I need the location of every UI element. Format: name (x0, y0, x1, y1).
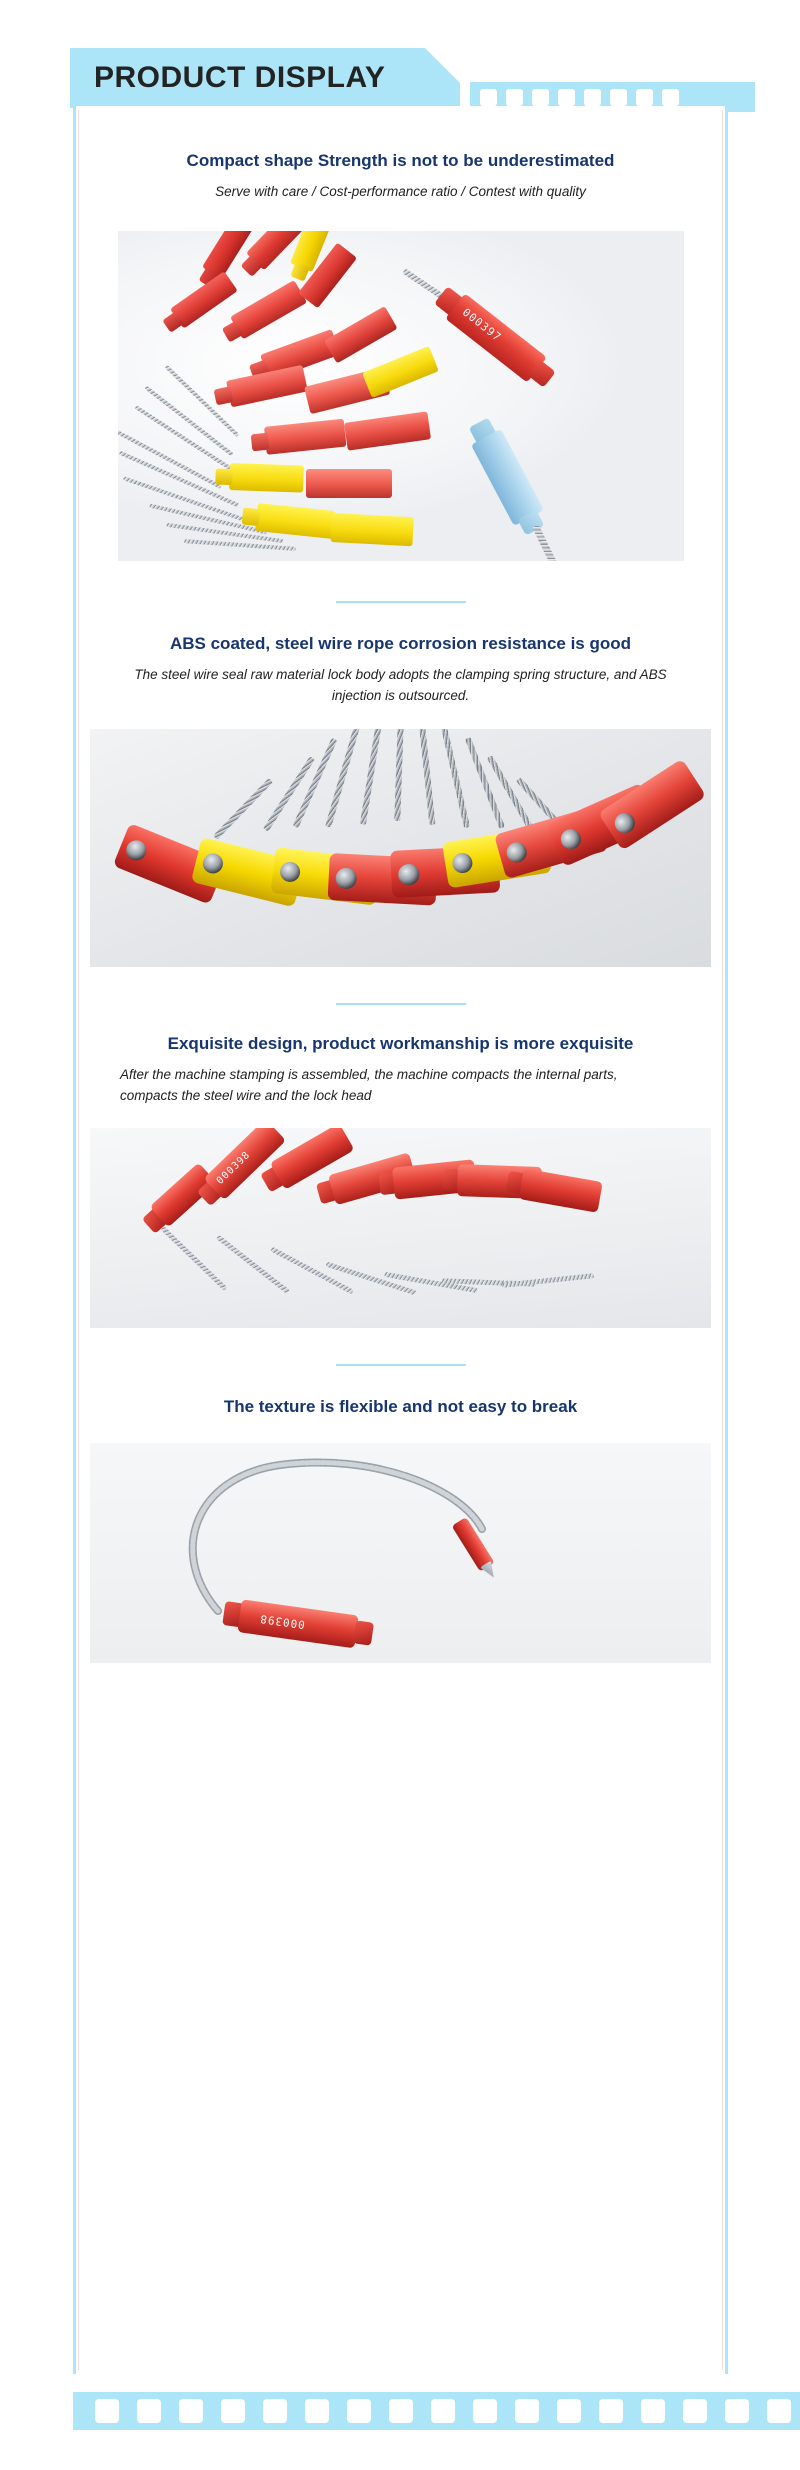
product-photo-seal-heads (90, 729, 711, 967)
seal-cap (353, 1621, 374, 1646)
perforation-square (305, 2399, 329, 2423)
section-exquisite-design: Exquisite design, product workmanship is… (80, 1005, 721, 1367)
wire-loop-svg (90, 1443, 711, 1663)
section-heading: ABS coated, steel wire rope corrosion re… (80, 633, 721, 656)
seal-shell (306, 469, 392, 498)
steel-wire-loop-shadow (193, 1463, 482, 1611)
perforation-square (179, 2399, 203, 2423)
perforation-square (263, 2399, 287, 2423)
perforation-square (725, 2399, 749, 2423)
section-flexible-texture: The texture is flexible and not easy to … (80, 1366, 721, 1663)
perforation-square (641, 2399, 665, 2423)
perforation-square (506, 89, 523, 106)
perforation-square (584, 89, 601, 106)
product-display-page: PRODUCT DISPLAY Compact shape Strength i… (0, 0, 800, 2470)
perforation-square (532, 89, 549, 106)
perforation-square (431, 2399, 455, 2423)
perforation-square (558, 89, 575, 106)
product-photo-single-seal-loop: 000398 (90, 1443, 711, 1663)
section-heading: Compact shape Strength is not to be unde… (80, 150, 721, 173)
seal-shell (229, 463, 304, 493)
perforation-square (480, 89, 497, 106)
perforation-square (515, 2399, 539, 2423)
perforation-square (221, 2399, 245, 2423)
seal-shell (330, 513, 413, 546)
section-heading: Exquisite design, product workmanship is… (80, 1033, 721, 1056)
seal-cap (241, 507, 260, 526)
frame-inner-line-right (722, 110, 723, 2370)
perforation-square (610, 89, 627, 106)
steel-wire-loop (193, 1463, 482, 1611)
perforation-square (636, 89, 653, 106)
perforation-square (599, 2399, 623, 2423)
perforation-square (137, 2399, 161, 2423)
section-abs-coated: ABS coated, steel wire rope corrosion re… (80, 603, 721, 1005)
seal-cap (250, 433, 269, 452)
perforation-square (767, 2399, 791, 2423)
perforation-square (473, 2399, 497, 2423)
section-heading: The texture is flexible and not easy to … (80, 1396, 721, 1419)
seal-cap (213, 386, 233, 405)
section-subtitle: After the machine stamping is assembled,… (80, 1065, 721, 1107)
perforation-square (389, 2399, 413, 2423)
product-photo-red-seals-row: 000398 (90, 1128, 711, 1328)
section-subtitle: Serve with care / Cost-performance ratio… (80, 182, 721, 203)
perforation-square (662, 89, 679, 106)
page-title: PRODUCT DISPLAY (70, 61, 385, 95)
perforation-square (557, 2399, 581, 2423)
seal-cap (215, 468, 233, 485)
perforation-square (683, 2399, 707, 2423)
section-subtitle: The steel wire seal raw material lock bo… (80, 665, 721, 707)
frame-inner-line-left (78, 110, 79, 2370)
title-banner: PRODUCT DISPLAY (70, 48, 460, 108)
content-column: Compact shape Strength is not to be unde… (80, 112, 721, 1663)
footer-perforation-strip (73, 2392, 800, 2430)
perforation-square (95, 2399, 119, 2423)
perforation-square (347, 2399, 371, 2423)
section-compact-shape: Compact shape Strength is not to be unde… (80, 112, 721, 603)
page-header: PRODUCT DISPLAY (0, 0, 800, 112)
product-photo-assorted-seals: 000397 (118, 231, 684, 561)
